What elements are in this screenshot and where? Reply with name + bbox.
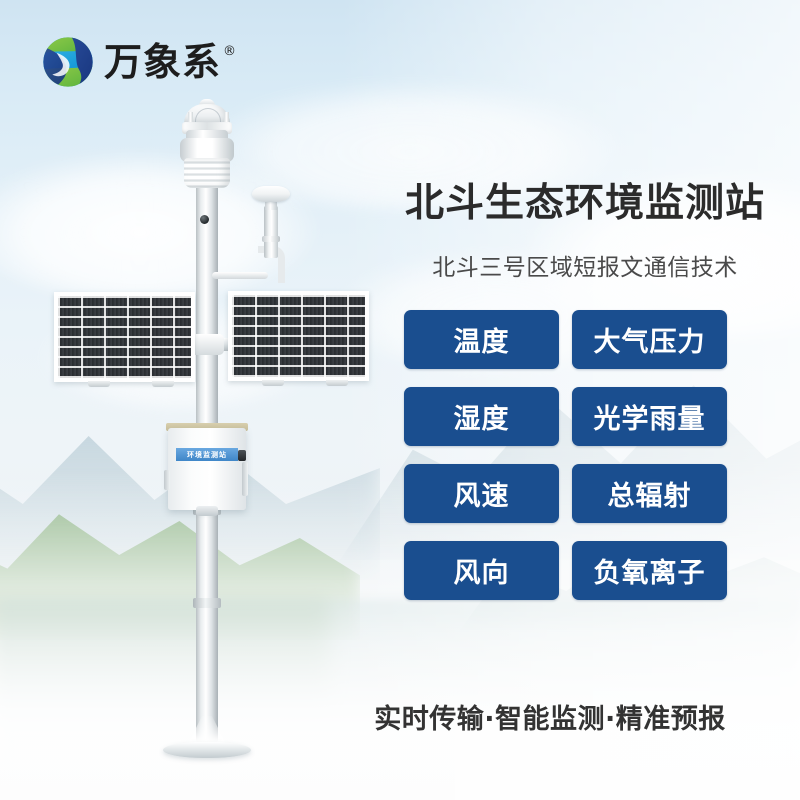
- cabinet-lock: [238, 450, 246, 461]
- radiation-shield: [184, 158, 230, 188]
- solar-panel-bracket: [262, 380, 284, 386]
- cabinet-mast-clamp: [196, 506, 218, 516]
- antenna-arm-collar: [262, 236, 280, 242]
- page-subtitle: 北斗三号区域短报文通信技术: [385, 248, 785, 282]
- solar-panel-icon: [54, 292, 195, 382]
- page-title: 北斗生态环境监测站: [385, 172, 785, 228]
- antenna-cap: [252, 186, 290, 202]
- feature-tag-negative-oxygen-ion[interactable]: 负氧离子: [572, 541, 727, 600]
- feature-tag-temperature[interactable]: 温度: [404, 310, 559, 369]
- cabinet-hinge: [242, 462, 248, 496]
- solar-panel-icon: [228, 291, 369, 381]
- solar-panel-cells: [232, 295, 365, 377]
- weather-station-product-image: 环境监测站: [0, 0, 420, 800]
- mast-cable-port: [200, 215, 209, 224]
- solar-panel-cells: [58, 296, 191, 378]
- feature-tag-humidity[interactable]: 湿度: [404, 387, 559, 446]
- feature-tag-total-radiation[interactable]: 总辐射: [572, 464, 727, 523]
- cabinet-label: 环境监测站: [176, 448, 238, 461]
- solar-panel-bracket: [152, 381, 174, 387]
- base-flange-plate: [163, 742, 251, 758]
- solar-panel-mount-hub: [190, 334, 224, 355]
- mast-joint: [193, 598, 221, 608]
- product-poster: 万象系 ® 北斗生态环境监测站 北斗三号区域短报文通信技术 温度 大气压力 湿度…: [0, 0, 800, 800]
- antenna-arm-vertical: [264, 206, 278, 258]
- control-cabinet: [168, 428, 246, 510]
- feature-tag-grid: 温度 大气压力 湿度 光学雨量 风速 总辐射 风向 负氧离子: [404, 310, 727, 600]
- feature-tag-wind-direction[interactable]: 风向: [404, 541, 559, 600]
- cabinet-hinge: [164, 470, 170, 490]
- solar-panel-bracket: [326, 380, 348, 386]
- feature-tag-optical-rainfall[interactable]: 光学雨量: [572, 387, 727, 446]
- feature-tag-air-pressure[interactable]: 大气压力: [572, 310, 727, 369]
- feature-tag-wind-speed[interactable]: 风速: [404, 464, 559, 523]
- solar-panel-bracket: [88, 381, 110, 387]
